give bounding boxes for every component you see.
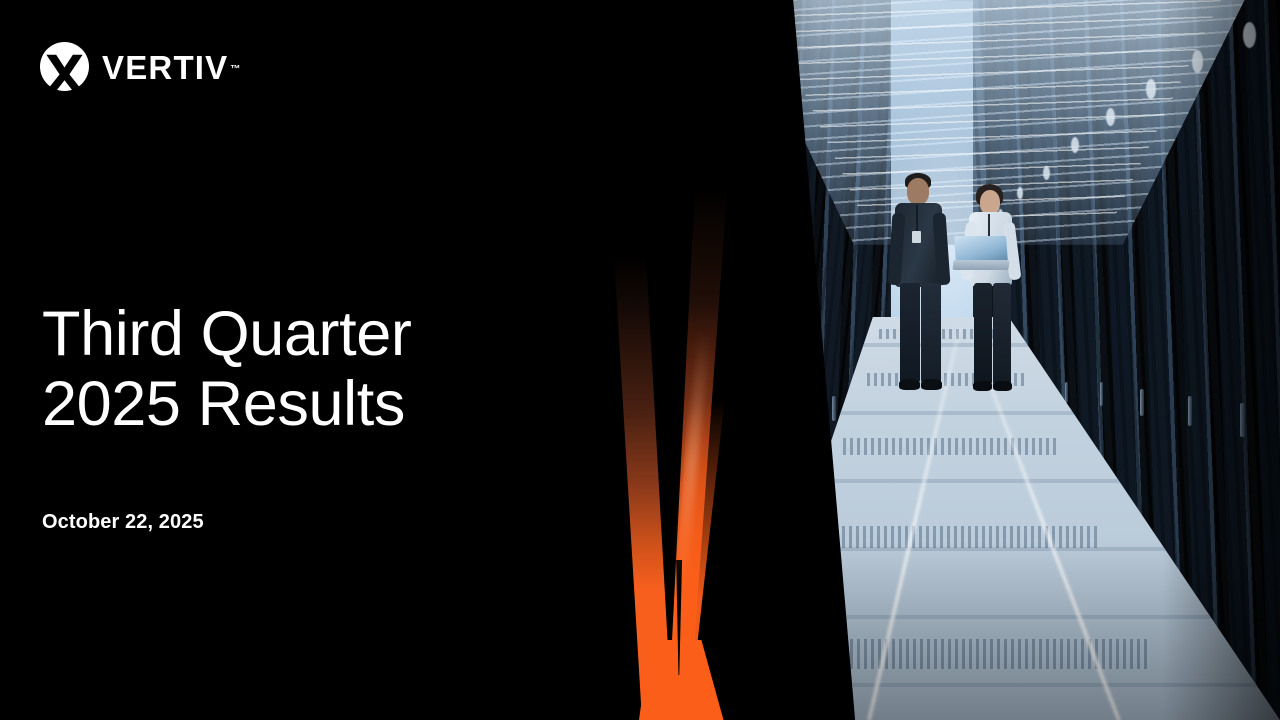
vertiv-logo[interactable]: VERTIV ™ bbox=[40, 41, 238, 91]
photo-vignette bbox=[690, 0, 1280, 720]
presentation-slide: VERTIV ™ Third Quarter 2025 Results Octo… bbox=[0, 0, 1280, 720]
title-block: Third Quarter 2025 Results October 22, 2… bbox=[42, 299, 562, 534]
vertiv-chevron-circle-icon bbox=[40, 42, 89, 91]
chevron-bottom-join bbox=[600, 640, 730, 720]
chevron-sheen bbox=[674, 330, 711, 590]
presentation-date: October 22, 2025 bbox=[42, 511, 562, 534]
chevron-center-notch bbox=[672, 560, 686, 675]
data-center-aisle-photo bbox=[690, 0, 1280, 720]
vertiv-wordmark: VERTIV ™ bbox=[102, 51, 238, 84]
chevron-left-leg bbox=[600, 255, 700, 720]
photo-inner bbox=[690, 0, 1280, 720]
chevron-right-leg bbox=[668, 0, 798, 720]
chevron-right-leg-fill bbox=[668, 400, 798, 720]
vertiv-wordmark-text: VERTIV bbox=[102, 51, 228, 84]
chevron-dark-wedge bbox=[690, 0, 800, 720]
page-title: Third Quarter 2025 Results bbox=[42, 299, 562, 439]
trademark-symbol: ™ bbox=[230, 65, 240, 75]
